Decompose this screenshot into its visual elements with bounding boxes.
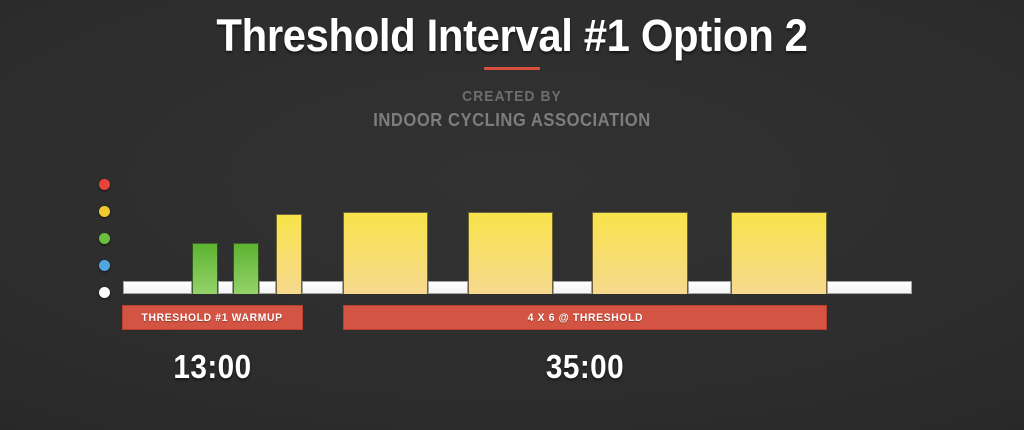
profile-segment-threshold bbox=[592, 212, 688, 294]
phase-warmup-duration: 13:00 bbox=[131, 348, 294, 386]
profile-segment-threshold bbox=[468, 212, 553, 294]
profile-segment-effort bbox=[192, 243, 218, 294]
profile-segment-recovery bbox=[428, 281, 468, 294]
profile-segment-recovery bbox=[302, 281, 343, 294]
profile-segment-effort bbox=[233, 243, 259, 294]
workout-profile-poster: Threshold Interval #1 Option 2 CREATED B… bbox=[0, 0, 1024, 430]
phase-main-set-label: 4 X 6 @ THRESHOLD bbox=[527, 312, 643, 324]
profile-segment-recovery bbox=[123, 281, 192, 294]
phase-main-set-duration: 35:00 bbox=[367, 348, 803, 386]
profile-segment-recovery bbox=[553, 281, 592, 294]
phase-warmup-bar[interactable]: THRESHOLD #1 WARMUP bbox=[122, 305, 303, 330]
profile-segment-recovery bbox=[259, 281, 276, 294]
profile-segment-recovery bbox=[218, 281, 233, 294]
workout-profile-chart: THRESHOLD #1 WARMUP13:004 X 6 @ THRESHOL… bbox=[0, 0, 1024, 430]
profile-segment-recovery bbox=[827, 281, 912, 294]
profile-segment-build bbox=[276, 214, 302, 294]
profile-segment-threshold bbox=[731, 212, 827, 294]
phase-main-set-bar[interactable]: 4 X 6 @ THRESHOLD bbox=[343, 305, 827, 330]
profile-segment-threshold bbox=[343, 212, 428, 294]
phase-warmup-label: THRESHOLD #1 WARMUP bbox=[142, 312, 283, 324]
profile-segment-recovery bbox=[688, 281, 731, 294]
